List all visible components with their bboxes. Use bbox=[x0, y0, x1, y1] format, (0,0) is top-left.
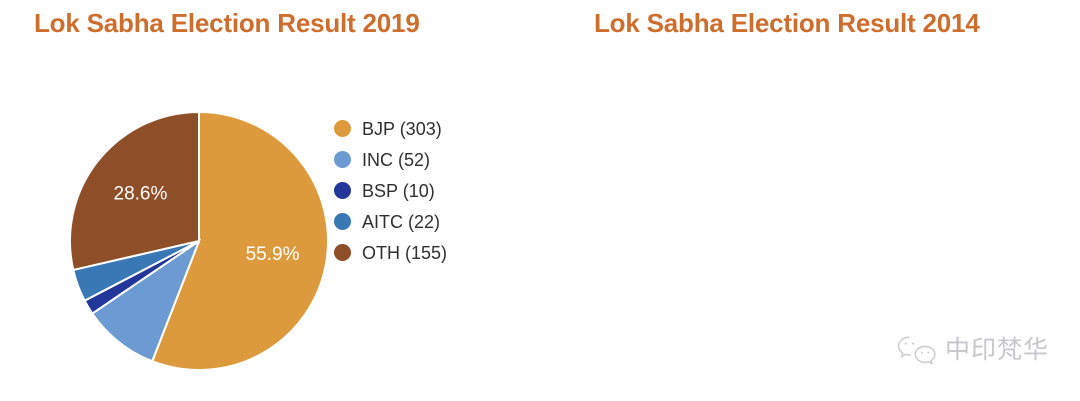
slice-percent-label-bjp: 55.9% bbox=[246, 244, 300, 265]
chart-panel-2019: Lok Sabha Election Result 2019 55.9%28.6… bbox=[0, 0, 540, 401]
legend-item-bjp[interactable]: BJP (303) bbox=[334, 113, 447, 144]
page-title-2019: Lok Sabha Election Result 2019 bbox=[34, 8, 420, 39]
legend-swatch-bjp bbox=[334, 120, 351, 137]
page-title-2014: Lok Sabha Election Result 2014 bbox=[594, 8, 980, 39]
legend-swatch-inc bbox=[334, 151, 351, 168]
legend-swatch-oth bbox=[334, 244, 351, 261]
legend-label-bsp: BSP (10) bbox=[362, 182, 435, 200]
legend-label-oth: OTH (155) bbox=[362, 244, 447, 262]
legend-item-oth[interactable]: OTH (155) bbox=[334, 237, 447, 268]
legend-label-aitc: AITC (22) bbox=[362, 213, 440, 231]
legend-2019: BJP (303)INC (52)BSP (10)AITC (22)OTH (1… bbox=[334, 113, 447, 268]
wechat-icon bbox=[896, 333, 938, 367]
watermark: 中印梵华 bbox=[896, 333, 1049, 367]
pie-svg-2019: 55.9%28.6% bbox=[68, 110, 330, 372]
legend-item-aitc[interactable]: AITC (22) bbox=[334, 206, 447, 237]
legend-swatch-bsp bbox=[334, 182, 351, 199]
legend-label-inc: INC (52) bbox=[362, 151, 430, 169]
watermark-text: 中印梵华 bbox=[945, 338, 1049, 363]
legend-swatch-aitc bbox=[334, 213, 351, 230]
legend-item-inc[interactable]: INC (52) bbox=[334, 144, 447, 175]
legend-label-bjp: BJP (303) bbox=[362, 120, 442, 138]
slice-percent-label-oth: 28.6% bbox=[114, 183, 168, 204]
legend-item-bsp[interactable]: BSP (10) bbox=[334, 175, 447, 206]
pie-chart-2019[interactable]: 55.9%28.6% bbox=[68, 110, 330, 372]
pie-slices-2019 bbox=[70, 112, 328, 370]
